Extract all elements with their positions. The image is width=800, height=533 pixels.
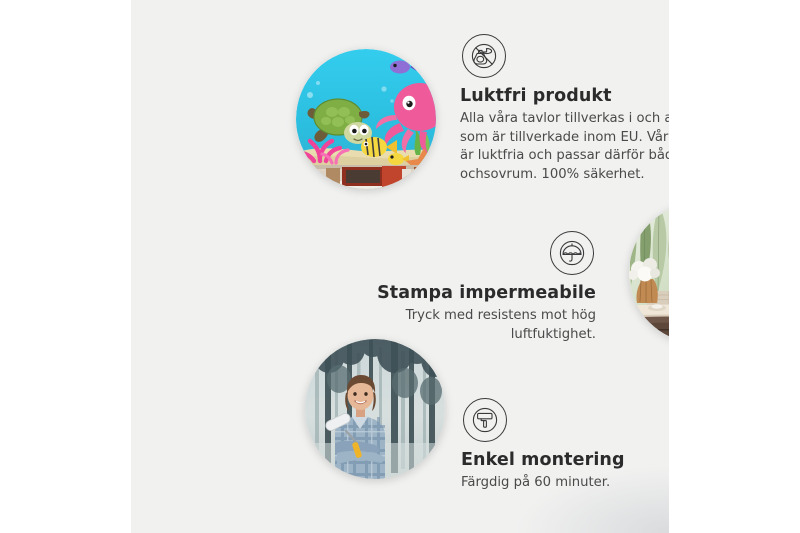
feature-enkel-montering: Enkel montering Färgdig på 60 minuter. [461,398,669,493]
bathroom-vanity-tropical-wallpaper-thumbnail[interactable] [629,203,669,343]
paint-roller-icon [463,398,507,442]
icon-row [331,231,596,275]
page-root: Luktfri produkt Alla våra tavlor tillver… [0,0,800,533]
feature-panel: Luktfri produkt Alla våra tavlor tillver… [131,0,669,533]
underwater-cartoon-mural-thumbnail[interactable] [296,49,436,189]
feature-body: Alla våra tavlor tillverkas i och av pro… [460,110,669,185]
feature-title: Luktfri produkt [460,86,669,106]
umbrella-icon [550,231,594,275]
feature-luktfri-produkt: Luktfri produkt Alla våra tavlor tillver… [460,34,669,185]
woman-with-paint-roller-forest-thumbnail[interactable] [305,339,445,479]
feature-body: Färgdig på 60 minuter. [461,474,669,493]
feature-stampa-impermeabile: Stampa impermeabile Tryck med resistens … [331,231,596,344]
no-fragrance-spray-bottle-icon [462,34,506,78]
feature-title: Enkel montering [461,450,669,470]
feature-title: Stampa impermeabile [331,283,596,303]
